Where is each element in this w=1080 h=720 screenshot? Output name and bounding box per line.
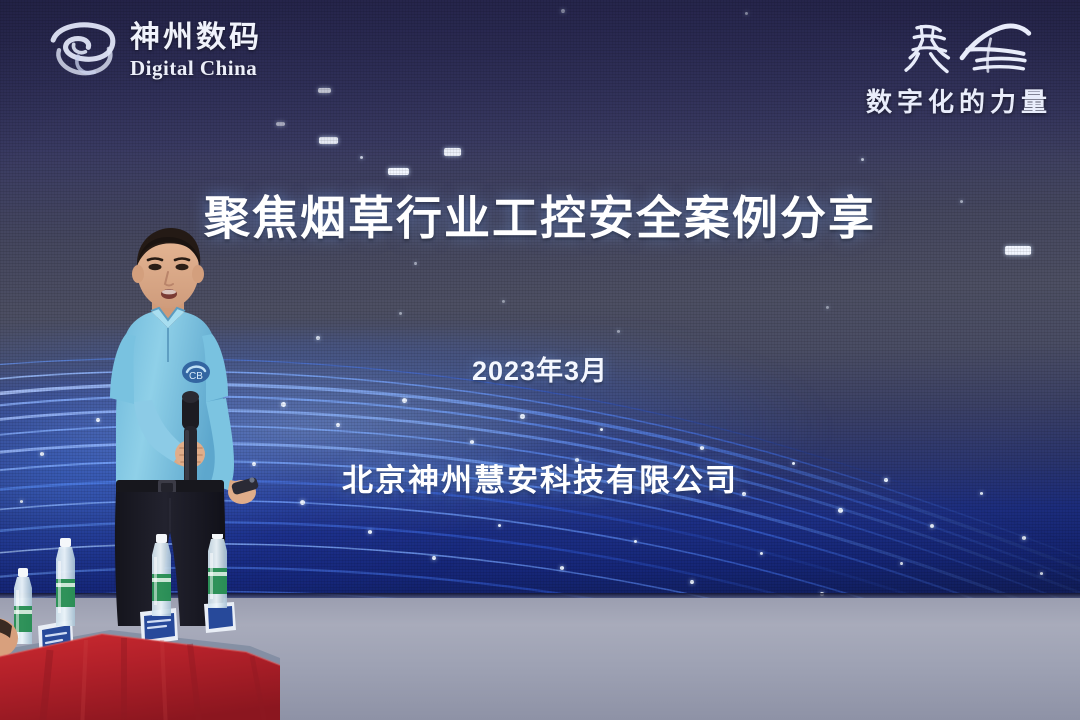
digital-china-swirl-icon bbox=[44, 18, 118, 84]
front-table-foreground bbox=[0, 534, 280, 720]
svg-text:CB: CB bbox=[189, 371, 203, 382]
event-logo: 数字化的力量 bbox=[866, 18, 1052, 119]
digital-china-logo: 神州数码 Digital China bbox=[44, 18, 262, 84]
water-bottle bbox=[208, 534, 227, 608]
brand-name-cn: 神州数码 bbox=[130, 23, 262, 53]
event-tagline: 数字化的力量 bbox=[866, 82, 1052, 119]
shirt-chest-logo: CB bbox=[182, 361, 210, 383]
brand-name-en: Digital China bbox=[130, 58, 262, 79]
brush-calligraphy-juhe-icon bbox=[902, 18, 1052, 80]
water-bottle bbox=[152, 534, 171, 616]
water-bottle bbox=[56, 538, 75, 626]
conference-stage-photo: 神州数码 Digital China 数字化的力量 bbox=[0, 0, 1080, 720]
